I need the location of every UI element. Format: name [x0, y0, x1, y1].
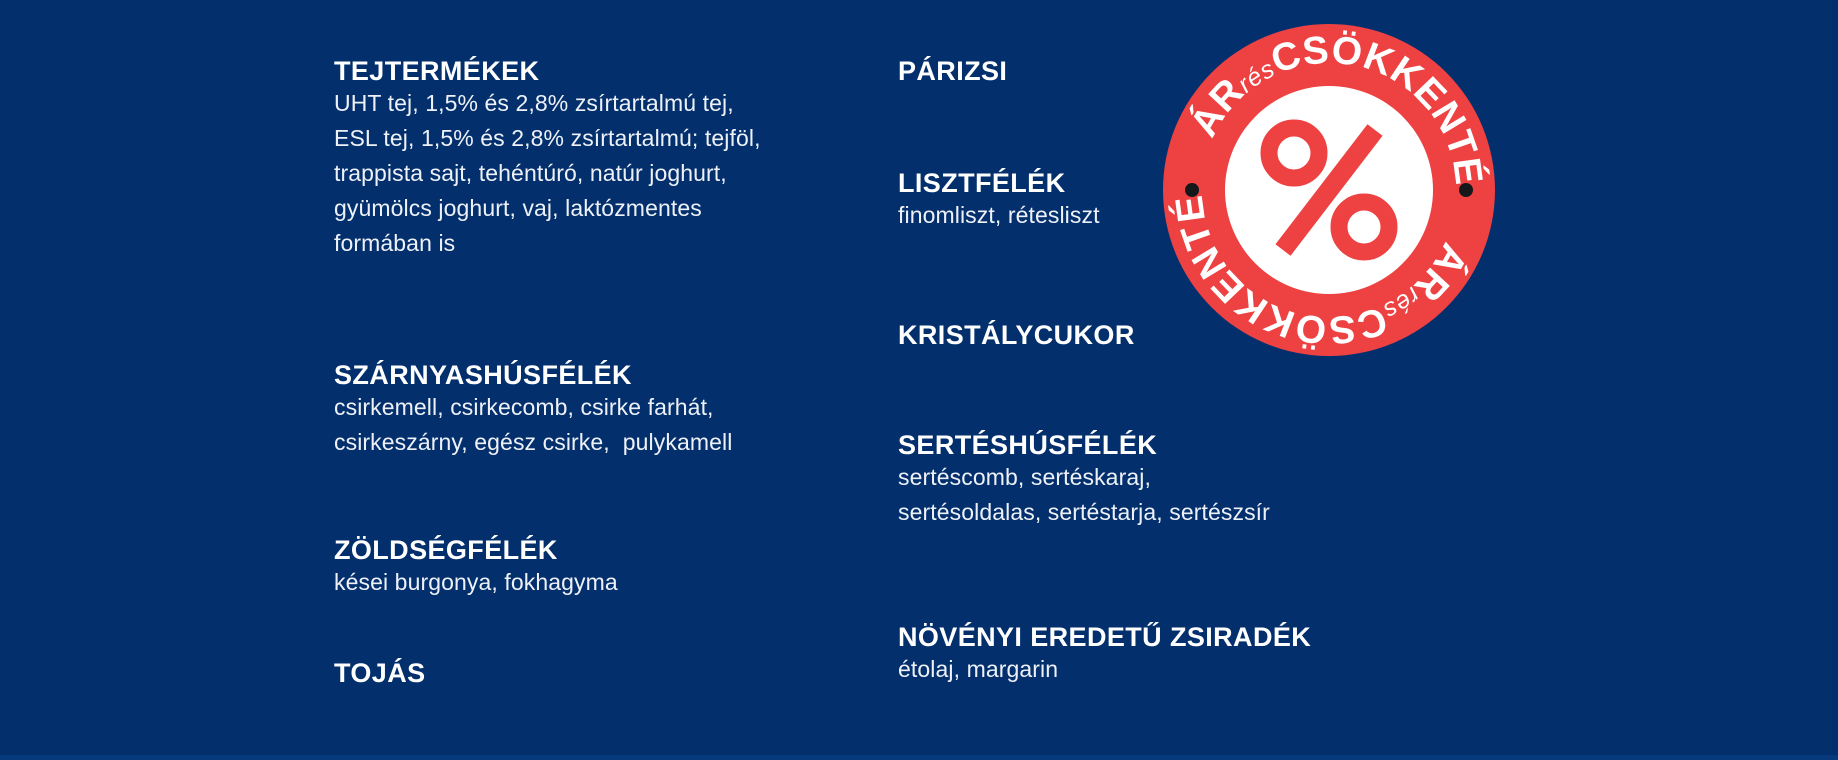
- group-lisztfelek: LISZTFÉLÉK finomliszt, rétesliszt: [898, 168, 1100, 233]
- body-line: csirkeszárny, egész csirke, pulykamell: [334, 425, 732, 460]
- group-heading: PÁRIZSI: [898, 56, 1007, 86]
- group-tojas: TOJÁS: [334, 658, 426, 688]
- body-line: gyümölcs joghurt, vaj, laktózmentes: [334, 191, 761, 226]
- body-line: sertésoldalas, sertéstarja, sertészsír: [898, 495, 1270, 530]
- group-serteshusfelek: SERTÉSHÚSFÉLÉK sertéscomb, sertéskaraj, …: [898, 430, 1270, 530]
- body-line: finomliszt, rétesliszt: [898, 198, 1100, 233]
- group-body: csirkemell, csirkecomb, csirke farhát, c…: [334, 390, 732, 460]
- body-line: ESL tej, 1,5% és 2,8% zsírtartalmú; tejf…: [334, 121, 761, 156]
- group-body: UHT tej, 1,5% és 2,8% zsírtartalmú tej, …: [334, 86, 761, 261]
- group-body: finomliszt, rétesliszt: [898, 198, 1100, 233]
- group-heading: TOJÁS: [334, 658, 426, 688]
- promo-board: TEJTERMÉKEK UHT tej, 1,5% és 2,8% zsírta…: [0, 0, 1838, 760]
- group-heading: SERTÉSHÚSFÉLÉK: [898, 430, 1270, 460]
- group-heading: LISZTFÉLÉK: [898, 168, 1100, 198]
- group-parizsi: PÁRIZSI: [898, 56, 1007, 86]
- bottom-edge-band: [0, 755, 1838, 760]
- group-heading: ZÖLDSÉGFÉLÉK: [334, 535, 618, 565]
- group-body: kései burgonya, fokhagyma: [334, 565, 618, 600]
- body-line: étolaj, margarin: [898, 652, 1311, 687]
- body-line: formában is: [334, 226, 761, 261]
- group-zoldsegfelek: ZÖLDSÉGFÉLÉK kései burgonya, fokhagyma: [334, 535, 618, 600]
- group-novenyi-eredetu-zsiradek: NÖVÉNYI EREDETŰ ZSIRADÉK étolaj, margari…: [898, 622, 1311, 687]
- group-szarnyashusfelek: SZÁRNYASHÚSFÉLÉK csirkemell, csirkecomb,…: [334, 360, 732, 460]
- body-line: kései burgonya, fokhagyma: [334, 565, 618, 600]
- body-line: sertéscomb, sertéskaraj,: [898, 460, 1270, 495]
- group-tejtermekek: TEJTERMÉKEK UHT tej, 1,5% és 2,8% zsírta…: [334, 56, 761, 261]
- group-kristalycukor: KRISTÁLYCUKOR: [898, 320, 1135, 350]
- group-heading: SZÁRNYASHÚSFÉLÉK: [334, 360, 732, 390]
- body-line: UHT tej, 1,5% és 2,8% zsírtartalmú tej,: [334, 86, 761, 121]
- discount-stamp: ÁRrésCSÖKKENTÉS ÁRrésCSÖKKENTÉS: [1161, 22, 1497, 358]
- body-line: csirkemell, csirkecomb, csirke farhát,: [334, 390, 732, 425]
- group-body: sertéscomb, sertéskaraj, sertésoldalas, …: [898, 460, 1270, 530]
- group-heading: KRISTÁLYCUKOR: [898, 320, 1135, 350]
- group-body: étolaj, margarin: [898, 652, 1311, 687]
- group-heading: TEJTERMÉKEK: [334, 56, 761, 86]
- body-line: trappista sajt, tehéntúró, natúr joghurt…: [334, 156, 761, 191]
- group-heading: NÖVÉNYI EREDETŰ ZSIRADÉK: [898, 622, 1311, 652]
